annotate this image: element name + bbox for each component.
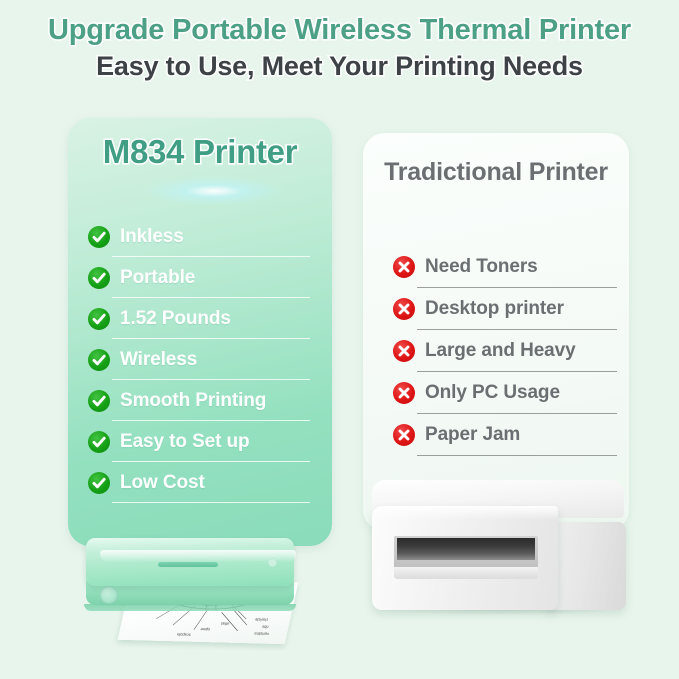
list-item: Desktop printer (393, 288, 615, 330)
list-item: Need Toners (393, 246, 615, 288)
feature-label: Paper Jam (425, 424, 520, 446)
feature-label: Inkless (120, 226, 184, 248)
divider (417, 455, 617, 456)
paper-tray-lip (394, 567, 538, 579)
cross-circle-icon (393, 298, 415, 320)
feature-label: 1.52 Pounds (120, 308, 231, 330)
feature-label: Need Toners (425, 256, 538, 278)
desktop-printer-image (366, 472, 632, 642)
feature-label: Desktop printer (425, 298, 564, 320)
feature-label: Low Cost (120, 472, 205, 494)
left-feature-list: Inkless Portable 1.52 Pounds Wireless (88, 216, 310, 503)
status-indicator (268, 558, 277, 567)
check-circle-icon (88, 349, 110, 371)
cross-circle-icon (393, 424, 415, 446)
paper-tray-opening (397, 538, 535, 560)
feature-label: Easy to Set up (120, 431, 250, 453)
list-item: Only PC Usage (393, 372, 615, 414)
list-item: Portable (88, 257, 310, 298)
check-circle-icon (88, 267, 110, 289)
feature-label: Portable (120, 267, 195, 289)
list-item: Paper Jam (393, 414, 615, 456)
svg-text:clavicle: clavicle (254, 617, 269, 622)
svg-text:scapula: scapula (176, 632, 191, 637)
check-circle-icon (88, 431, 110, 453)
svg-text:atlas: atlas (220, 621, 229, 626)
cross-circle-icon (393, 256, 415, 278)
list-item: Wireless (88, 339, 310, 380)
list-item: Low Cost (88, 462, 310, 503)
cross-circle-icon (393, 340, 415, 362)
list-item: Inkless (88, 216, 310, 257)
printer-foot (84, 604, 296, 611)
page-subtitle: Easy to Use, Meet Your Printing Needs (0, 51, 679, 81)
svg-text:vertebra: vertebra (253, 631, 269, 636)
feature-label: Only PC Usage (425, 382, 560, 404)
svg-text:ribs: ribs (262, 625, 269, 630)
feature-label: Wireless (120, 349, 197, 371)
right-feature-list: Need Toners Desktop printer Large and He… (393, 246, 615, 456)
cross-circle-icon (393, 382, 415, 404)
check-circle-icon (88, 390, 110, 412)
header: Upgrade Portable Wireless Thermal Printe… (0, 14, 679, 82)
printer-body (86, 538, 294, 586)
printer-body-highlight (372, 506, 558, 520)
feature-label: Smooth Printing (120, 390, 266, 412)
feature-label: Large and Heavy (425, 340, 576, 362)
infographic-canvas: Upgrade Portable Wireless Thermal Printe… (0, 0, 679, 679)
check-circle-icon (88, 308, 110, 330)
right-card-title: Tradictional Printer (371, 157, 621, 189)
list-item: Large and Heavy (393, 330, 615, 372)
top-paper-slot (158, 562, 218, 567)
check-circle-icon (88, 226, 110, 248)
list-item: 1.52 Pounds (88, 298, 310, 339)
list-item: Easy to Set up (88, 421, 310, 462)
svg-text:spine: spine (199, 627, 210, 632)
thermal-printer-image: scapula spine atlas vertebra ribs clavic… (78, 528, 314, 638)
divider (112, 502, 310, 503)
body-highlight (100, 550, 296, 562)
page-title: Upgrade Portable Wireless Thermal Printe… (0, 14, 679, 46)
power-button (100, 586, 118, 604)
printer-side-module (546, 522, 626, 610)
list-item: Smooth Printing (88, 380, 310, 421)
left-card-title: M834 Printer (68, 133, 332, 171)
check-circle-icon (88, 472, 110, 494)
